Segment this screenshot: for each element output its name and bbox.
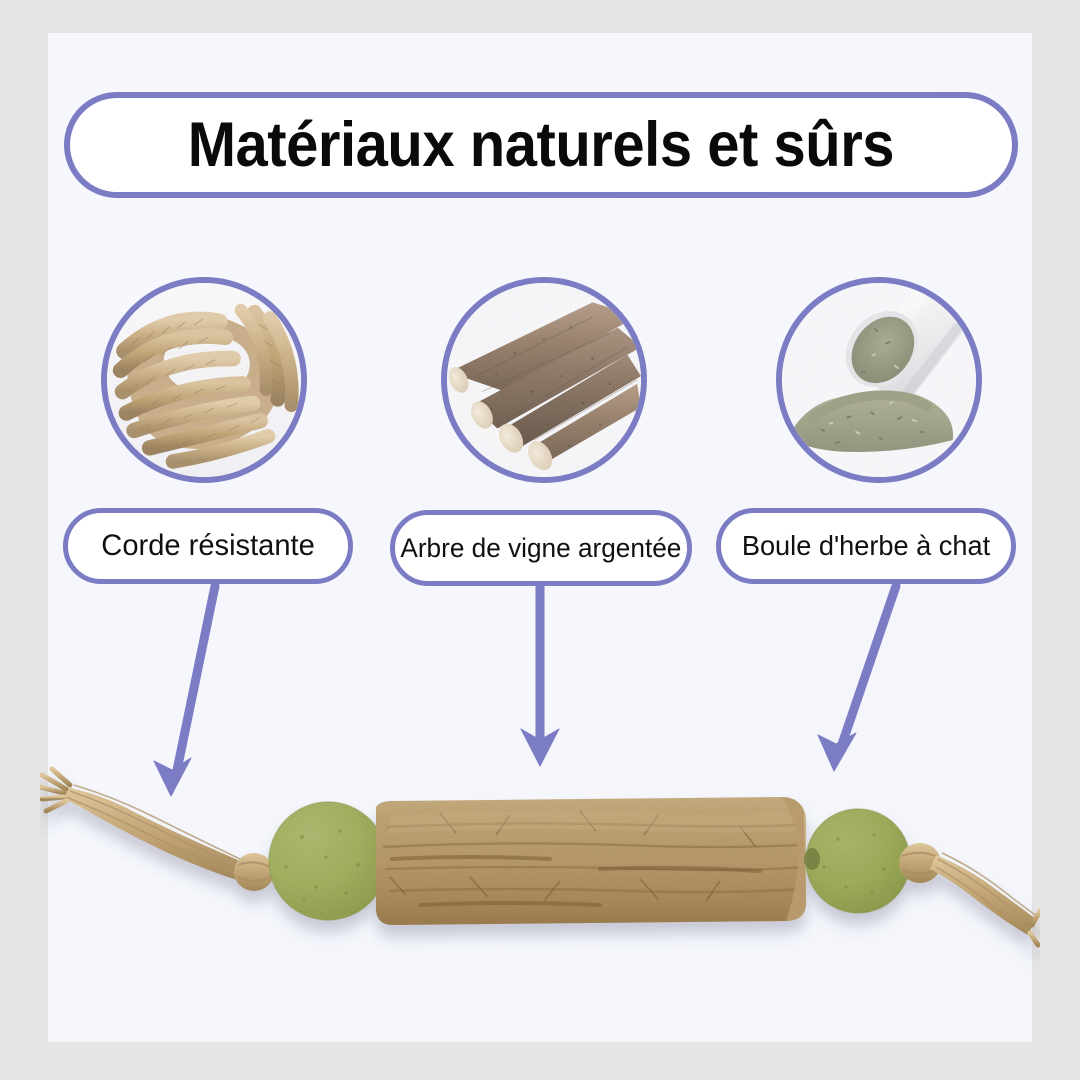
label-pill-catnip: Boule d'herbe à chat [716,508,1016,584]
catnip-ball-left [269,802,387,920]
feature-image-silvervine [441,277,647,483]
title-banner: Matériaux naturels et sûrs [64,92,1018,198]
label-catnip-text: Boule d'herbe à chat [742,530,990,562]
feature-image-catnip [776,277,982,483]
product-photo-cat-chew-toy [40,735,1040,980]
rope-tassel-right [899,843,1040,945]
natural-rope-coil-icon [107,283,301,477]
catnip-ball-right [804,809,910,913]
label-pill-rope: Corde résistante [63,508,353,584]
label-rope-text: Corde résistante [101,529,315,563]
cat-chew-stick-toy-icon [40,735,1040,980]
silver-vine-sticks-icon [447,283,641,477]
page-title: Matériaux naturels et sûrs [188,109,894,181]
infographic-stage: Matériaux naturels et sûrs [0,0,1080,1080]
label-pill-silvervine: Arbre de vigne argentée [390,510,692,586]
rope-tassel-left [40,769,274,891]
catnip-jar-spill-icon [782,283,976,477]
silver-vine-stick [376,797,806,925]
feature-image-rope [101,277,307,483]
label-silvervine-text: Arbre de vigne argentée [401,533,682,564]
